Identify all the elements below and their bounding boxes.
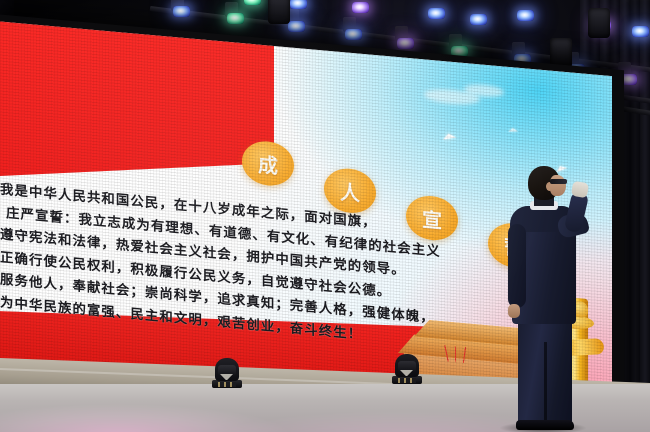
spotlight-icon	[428, 8, 445, 19]
moving-head-truss-left	[268, 0, 290, 24]
stage-photo: 成 人 宣 誓 我是中华人民共和国公民，在十八岁成年之际，面对国旗， 庄严宣誓：…	[0, 0, 650, 432]
spotlight-icon	[397, 38, 414, 49]
spotlight-icon	[352, 2, 369, 13]
spotlight-icon	[173, 6, 190, 17]
light-controls	[398, 378, 416, 383]
person-left-hand	[508, 304, 520, 318]
person-leg-seam	[544, 342, 547, 424]
spotlight-icon	[632, 26, 649, 37]
light-controls	[218, 382, 236, 387]
spotlight-icon	[244, 0, 261, 5]
dove-icon	[508, 128, 518, 132]
person-left-arm	[508, 224, 526, 308]
moving-head-truss-far	[588, 8, 610, 38]
glasses-icon	[550, 179, 567, 184]
heading-char-1: 成	[258, 148, 278, 179]
spotlight-icon	[470, 14, 487, 25]
person-shoes	[516, 420, 574, 430]
spotlight-icon	[345, 29, 362, 40]
person-raised-fist	[571, 181, 589, 199]
spotlight-icon	[288, 21, 305, 32]
spotlight-icon	[517, 10, 534, 21]
spotlight-icon	[227, 13, 244, 24]
person-taking-oath	[506, 166, 592, 432]
heading-char-2: 人	[340, 175, 360, 206]
spotlight-icon	[290, 0, 307, 9]
red-flags-icon	[442, 345, 468, 363]
